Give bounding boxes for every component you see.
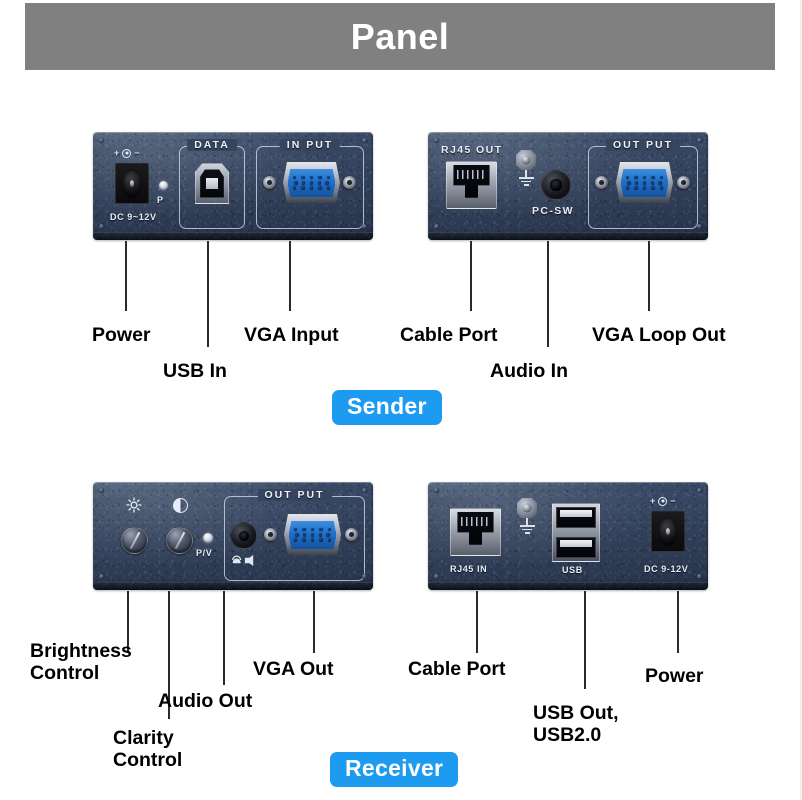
dc-center-positive-icon	[658, 497, 667, 506]
ground-earth-icon	[517, 498, 537, 534]
vga-pin-row	[293, 181, 331, 184]
dc-rating-label: DC 9-12V	[644, 564, 688, 574]
chassis-screw	[99, 574, 104, 579]
vga-pin-row	[626, 186, 664, 189]
rj45-pins	[457, 170, 486, 180]
leader-line-cable-port	[476, 591, 478, 653]
dc-jack-pin	[130, 180, 134, 187]
vga-face	[288, 169, 336, 198]
rj45-cavity	[453, 165, 489, 198]
chassis-screw	[362, 138, 367, 143]
contrast-icon	[173, 498, 188, 513]
callout-usb-out: USB Out, USB2.0	[533, 702, 619, 746]
dc-jack-pin	[666, 528, 670, 535]
clarity-knob[interactable]	[166, 527, 193, 554]
usb-b-tongue	[206, 178, 217, 189]
usb-b-data-port[interactable]	[195, 163, 229, 204]
chassis-screw	[434, 224, 439, 229]
polarity-plus: +	[650, 496, 655, 506]
vga-jack-screw-left	[595, 176, 608, 189]
chassis-screw	[99, 138, 104, 143]
vga-pin-row	[294, 533, 332, 536]
dc-power-jack[interactable]	[115, 163, 149, 204]
pv-led	[203, 533, 213, 543]
receiver-back-device: RJ45 IN USB + − DC 9-12V	[428, 482, 708, 590]
callout-audio-out: Audio Out	[158, 690, 252, 712]
leader-line-usb-out	[584, 591, 586, 689]
callout-clarity-control: Clarity Control	[113, 727, 182, 771]
pc-sw-audio-jack[interactable]	[541, 170, 571, 200]
leader-line-power	[125, 241, 127, 311]
chassis-screw	[697, 224, 702, 229]
receiver-front-device: P/V OUT PUT	[93, 482, 373, 590]
leader-line-usb-in	[207, 241, 209, 347]
audio-jack-hole	[550, 179, 561, 190]
dc-center-positive-icon	[122, 149, 131, 158]
chassis-screw	[697, 138, 702, 143]
chassis-screw	[99, 488, 104, 493]
vga-input-port[interactable]	[283, 162, 340, 203]
vga-pin-row	[626, 181, 664, 184]
vga-face	[621, 169, 669, 198]
leader-line-vga-out	[313, 591, 315, 653]
vga-out-port[interactable]	[284, 514, 341, 555]
chassis-screw	[697, 574, 702, 579]
callout-cable-port: Cable Port	[400, 324, 498, 346]
input-section-label: IN PUT	[280, 139, 340, 151]
audio-jack-hole	[239, 531, 249, 541]
rj45-out-port[interactable]	[446, 161, 497, 209]
usb-out-ports[interactable]	[552, 503, 600, 562]
callout-vga-input: VGA Input	[244, 324, 339, 346]
dc-polarity-marking: + −	[650, 496, 676, 506]
callout-cable-port: Cable Port	[408, 658, 506, 680]
ground-nut	[517, 498, 537, 518]
usb-b-cavity	[200, 169, 224, 197]
vga-jack-screw-left	[264, 528, 277, 541]
vga-jack-screw-right	[345, 528, 358, 541]
vga-pin-row	[293, 186, 331, 189]
usb-label: USB	[562, 565, 583, 575]
headphone-icon	[229, 554, 257, 572]
vga-pin-row	[294, 528, 332, 531]
callout-power: Power	[645, 665, 704, 687]
sender-badge: Sender	[332, 390, 442, 425]
dc-jack-ring	[123, 169, 142, 197]
chassis-screw	[697, 488, 702, 493]
vga-pin-row	[626, 176, 664, 179]
callout-vga-loop-out: VGA Loop Out	[592, 324, 726, 346]
rj45-in-label: RJ45 IN	[450, 564, 487, 574]
vga-pin-row	[293, 176, 331, 179]
callout-usb-in: USB In	[163, 360, 227, 382]
leader-line-vga-loop-out	[648, 241, 650, 311]
callout-audio-in: Audio In	[490, 360, 568, 382]
leader-line-power	[677, 591, 679, 653]
chassis-screw	[362, 574, 367, 579]
dc-polarity-marking: + −	[114, 148, 140, 158]
chassis-screw	[434, 138, 439, 143]
power-led	[159, 181, 168, 190]
chassis-screw	[434, 574, 439, 579]
chassis-screw	[362, 488, 367, 493]
chassis-screw	[434, 488, 439, 493]
ground-nut	[516, 150, 536, 170]
power-led-label: P	[157, 195, 164, 205]
pv-led-label: P/V	[196, 548, 212, 558]
data-section-label: DATA	[187, 139, 237, 151]
vga-jack-screw-left	[263, 176, 276, 189]
vga-jack-screw-right	[677, 176, 690, 189]
vga-pin-row	[294, 538, 332, 541]
dc-power-jack[interactable]	[651, 511, 685, 552]
vga-jack-screw-right	[343, 176, 356, 189]
output-section-label: OUT PUT	[257, 489, 331, 501]
polarity-plus: +	[114, 148, 119, 158]
ground-earth-icon	[516, 150, 536, 186]
sender-front-device: + − DC 9~12V P DATA IN PUT	[93, 132, 373, 240]
dc-jack-ring	[659, 517, 678, 545]
vga-face	[289, 521, 337, 550]
sender-back-device: RJ45 OUT PC-SW OUT PUT	[428, 132, 708, 240]
dc-rating-label: DC 9~12V	[110, 212, 157, 222]
audio-out-jack[interactable]	[230, 522, 257, 549]
usb-port-upper[interactable]	[556, 507, 596, 528]
page-title: Panel	[351, 16, 450, 58]
chassis-screw	[99, 224, 104, 229]
leader-line-audio-out	[223, 591, 225, 685]
chassis-screw	[362, 224, 367, 229]
leader-line-cable-port	[470, 241, 472, 311]
rj45-cavity	[457, 512, 493, 545]
leader-line-audio-in	[547, 241, 549, 347]
brightness-knob[interactable]	[121, 527, 148, 554]
sun-icon	[126, 497, 142, 513]
polarity-minus: −	[134, 148, 139, 158]
rj45-out-label: RJ45 OUT	[441, 144, 502, 156]
rj45-in-port[interactable]	[450, 508, 501, 556]
polarity-minus: −	[670, 496, 675, 506]
panel-diagram-page: Panel + − DC 9~12V P DATA	[0, 0, 802, 800]
callout-vga-out: VGA Out	[253, 658, 334, 680]
pc-sw-label: PC-SW	[532, 205, 574, 217]
usb-port-lower[interactable]	[556, 537, 596, 558]
header-bar: Panel	[25, 3, 775, 70]
output-section-label: OUT PUT	[606, 139, 680, 151]
callout-power: Power	[92, 324, 151, 346]
rj45-pins	[461, 517, 490, 527]
leader-line-vga-input	[289, 241, 291, 311]
callout-brightness-control: Brightness Control	[30, 640, 132, 684]
vga-loop-out-port[interactable]	[616, 162, 673, 203]
receiver-badge: Receiver	[330, 752, 458, 787]
